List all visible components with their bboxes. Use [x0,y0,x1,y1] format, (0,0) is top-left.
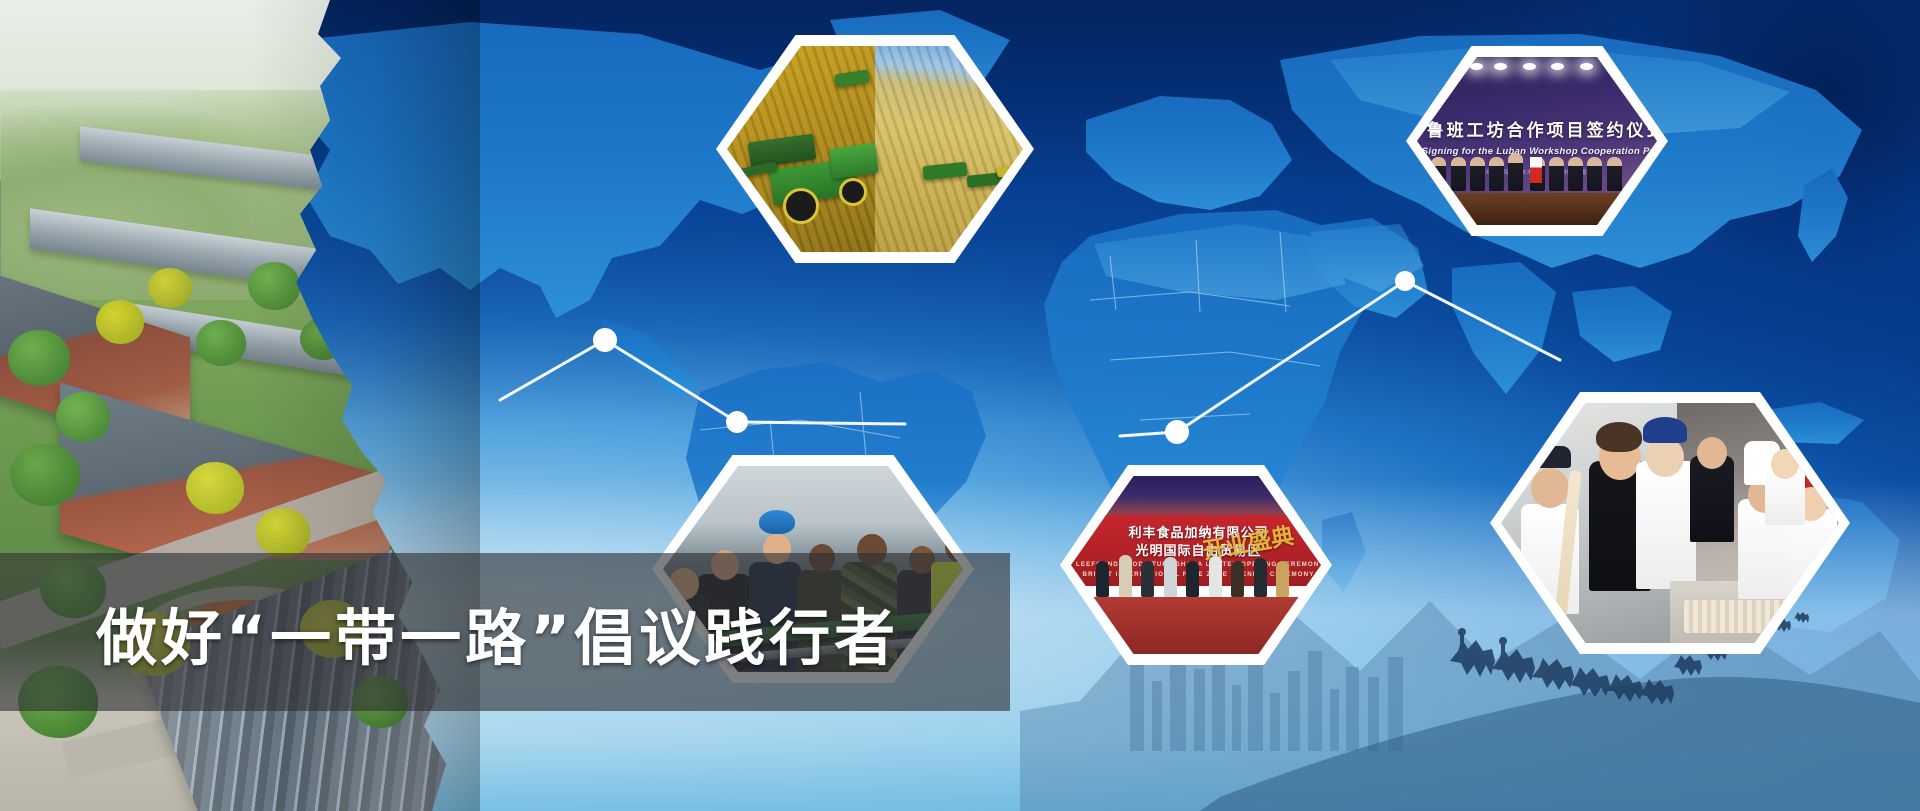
blue-safety-helmet-icon [759,510,795,534]
banner-root: 鲁班工坊合作项目签约仪式 Signing for the Luban Works… [0,0,1920,811]
link-asia-southeast [1405,281,1560,360]
link-north-america-west [500,340,605,400]
link-south-america-east [737,422,905,424]
node-africa [1165,420,1189,444]
node-americas-south [726,411,748,433]
node-americas-north [593,328,617,352]
page-title: 做好“一带一路”倡议践行者 [0,553,1010,711]
node-south-asia [1395,271,1415,291]
link-north-south-america [605,340,737,422]
link-asia-africa [1177,281,1405,432]
luban-banner-title-zh: 鲁班工坊合作项目签约仪式 [1427,116,1653,141]
